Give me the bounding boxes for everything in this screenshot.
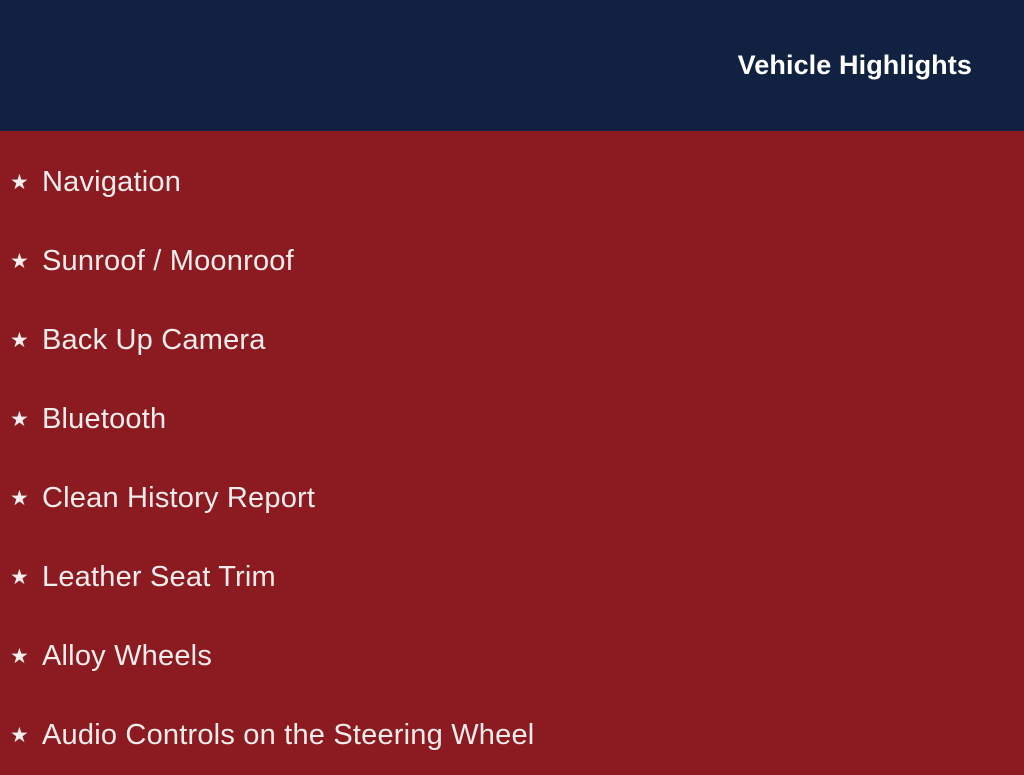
list-item: ★ Alloy Wheels (0, 617, 1024, 696)
list-item: ★ Bluetooth (0, 380, 1024, 459)
star-icon: ★ (10, 567, 42, 588)
list-item-label: Navigation (42, 167, 181, 197)
star-icon: ★ (10, 409, 42, 430)
list-item-label: Alloy Wheels (42, 641, 212, 671)
list-item: ★ Audio Controls on the Steering Wheel (0, 696, 1024, 775)
page-title: Vehicle Highlights (738, 52, 972, 79)
list-item: ★ Sunroof / Moonroof (0, 222, 1024, 301)
star-icon: ★ (10, 251, 42, 272)
list-item-label: Sunroof / Moonroof (42, 246, 294, 276)
list-item: ★ Leather Seat Trim (0, 538, 1024, 617)
star-icon: ★ (10, 172, 42, 193)
star-icon: ★ (10, 488, 42, 509)
star-icon: ★ (10, 330, 42, 351)
vehicle-highlights-list: ★ Navigation ★ Sunroof / Moonroof ★ Back… (0, 143, 1024, 775)
list-item-label: Back Up Camera (42, 325, 266, 355)
list-item-label: Audio Controls on the Steering Wheel (42, 720, 534, 750)
star-icon: ★ (10, 646, 42, 667)
list-item-label: Clean History Report (42, 483, 315, 513)
list-item-label: Bluetooth (42, 404, 166, 434)
list-item: ★ Back Up Camera (0, 301, 1024, 380)
list-item-label: Leather Seat Trim (42, 562, 276, 592)
vehicle-highlights-slide: Vehicle Highlights ★ Navigation ★ Sunroo… (0, 0, 1024, 768)
slide-header: Vehicle Highlights (0, 0, 1024, 131)
list-item: ★ Clean History Report (0, 459, 1024, 538)
list-item: ★ Navigation (0, 143, 1024, 222)
star-icon: ★ (10, 725, 42, 746)
slide-body: ★ Navigation ★ Sunroof / Moonroof ★ Back… (0, 131, 1024, 775)
